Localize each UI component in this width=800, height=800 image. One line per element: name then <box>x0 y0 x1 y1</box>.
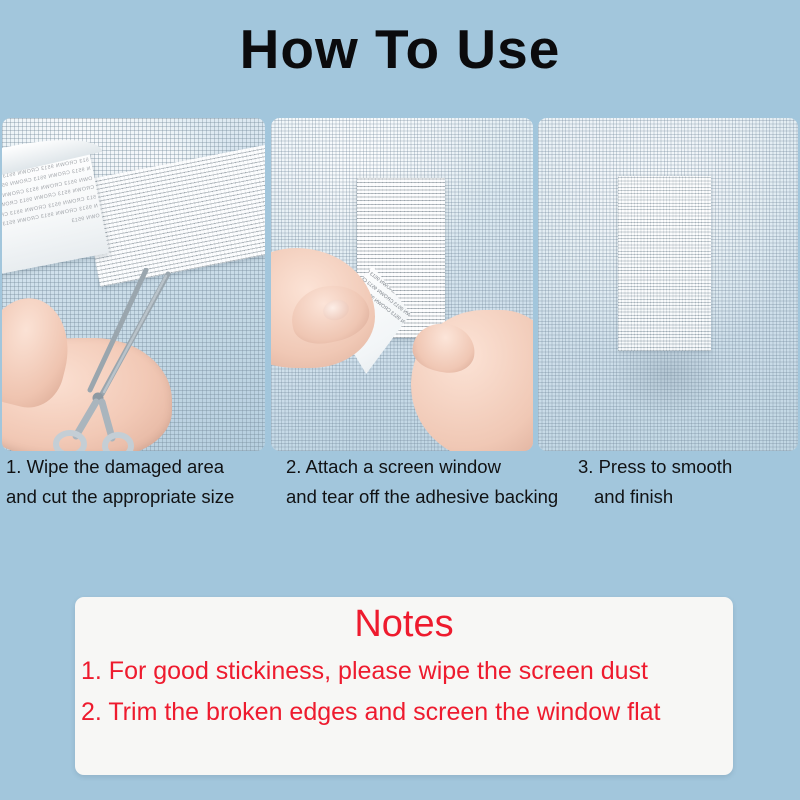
step-photo-1: CROWN 9513 CROWN 9513 CROWN 9513 CROWN 9… <box>2 118 265 451</box>
photo-strip: CROWN 9513 CROWN 9513 CROWN 9513 CROWN 9… <box>0 118 800 451</box>
notes-heading: Notes <box>75 603 733 647</box>
note-item-1: 1. For good stickiness, please wipe the … <box>75 655 733 689</box>
note-item-2: 2. Trim the broken edges and screen the … <box>75 696 733 730</box>
page-title: How To Use <box>0 22 800 77</box>
notes-box: Notes 1. For good stickiness, please wip… <box>75 597 733 775</box>
step-caption-3-line-1: 3. Press to smooth <box>578 452 732 482</box>
step-caption-2: 2. Attach a screen window and tear off t… <box>286 452 558 512</box>
step-caption-3: 3. Press to smooth and finish <box>578 452 732 512</box>
step-caption-2-line-2: and tear off the adhesive backing <box>286 482 558 512</box>
step-captions: 1. Wipe the damaged area and cut the app… <box>0 452 800 522</box>
scissors-icon <box>50 268 200 451</box>
step-photo-2: CROWN 9513 CROWN 9513 CROWN 9513 CROWN 9… <box>271 118 533 451</box>
step-caption-1-line-2: and cut the appropriate size <box>6 482 234 512</box>
step-caption-1: 1. Wipe the damaged area and cut the app… <box>6 452 234 512</box>
applied-mesh-patch-3 <box>618 176 711 351</box>
step-caption-1-line-1: 1. Wipe the damaged area <box>6 452 234 482</box>
step-caption-2-line-1: 2. Attach a screen window <box>286 452 558 482</box>
patch-shadow-3 <box>612 346 724 416</box>
step-caption-3-line-2: and finish <box>578 482 732 512</box>
step-photo-3 <box>538 118 798 451</box>
